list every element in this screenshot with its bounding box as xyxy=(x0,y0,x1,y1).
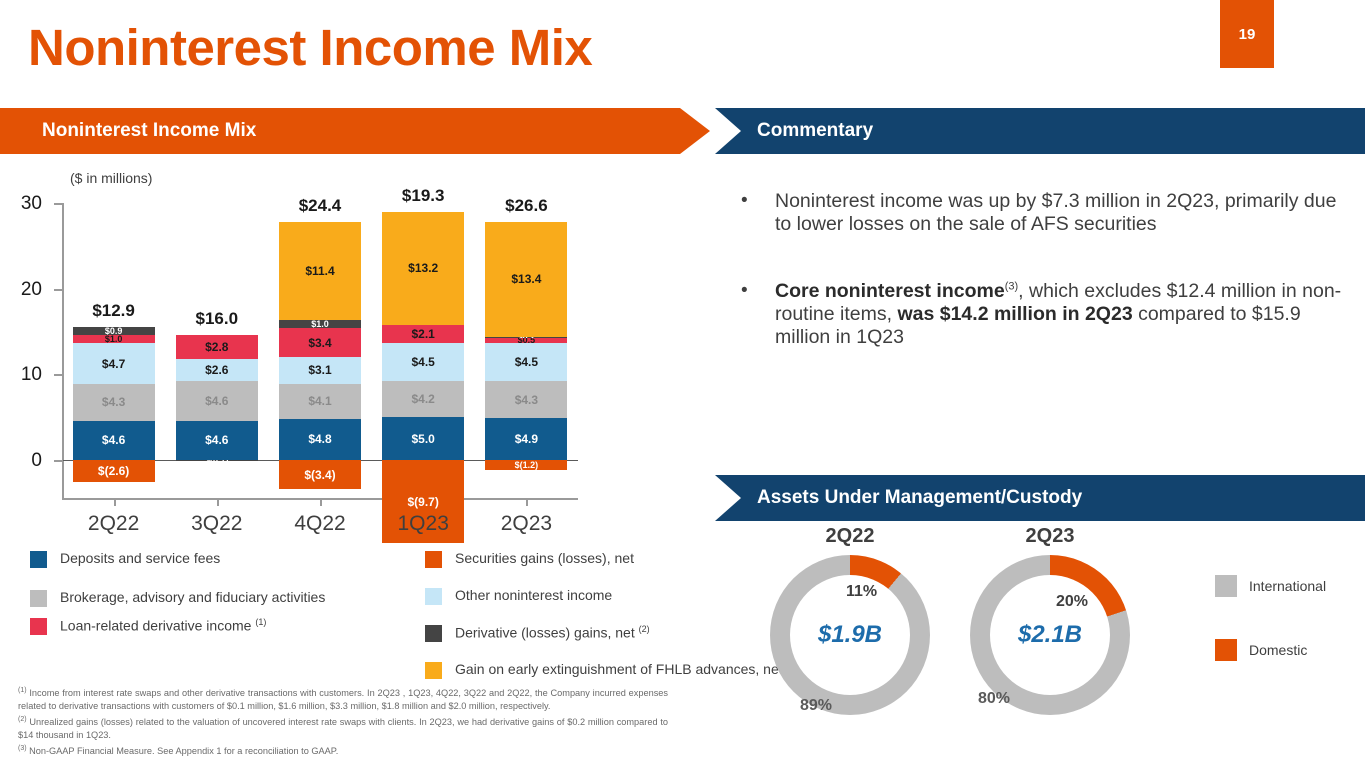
legend-item-label: Securities gains (losses), net xyxy=(455,550,634,566)
bar-segment: $4.3 xyxy=(73,384,155,421)
legend-item: Derivative (losses) gains, net (2) xyxy=(425,624,690,642)
section-header-aum-custody: Assets Under Management/Custody xyxy=(715,475,1365,521)
bar-total-label: $12.9 xyxy=(59,301,169,321)
banner-notch-icon xyxy=(715,108,741,154)
bar-segment: $0.5 xyxy=(485,338,567,342)
aum-legend: InternationalDomestic xyxy=(1215,575,1326,703)
bar-segment: $0.2 xyxy=(485,337,567,339)
bar-total-label: $16.0 xyxy=(162,309,272,329)
x-tick-mark xyxy=(114,498,116,506)
bar-segment: $4.6 xyxy=(176,381,258,420)
commentary-bullet: •Noninterest income was up by $7.3 milli… xyxy=(735,190,1355,236)
y-tick-label: 30 xyxy=(8,193,42,215)
legend-footnote-ref: (2) xyxy=(639,624,650,634)
section-header-label: Noninterest Income Mix xyxy=(0,120,256,142)
aum-legend-swatch xyxy=(1215,575,1237,597)
bar-segment: $0.9 xyxy=(73,327,155,335)
aum-legend-swatch xyxy=(1215,639,1237,661)
y-axis-line xyxy=(62,203,64,498)
banner-arrow-icon xyxy=(680,108,710,154)
footnotes: (1) Income from interest rate swaps and … xyxy=(18,686,668,759)
aum-legend-label: International xyxy=(1249,578,1326,594)
aum-custody-section: InternationalDomestic 2Q22$1.9B11%89%2Q2… xyxy=(715,525,1365,755)
section-header-noninterest-income-mix: Noninterest Income Mix xyxy=(0,108,680,154)
legend-color-swatch xyxy=(30,618,47,635)
bar-segment: $13.2 xyxy=(382,212,464,325)
page-title: Noninterest Income Mix xyxy=(28,22,592,73)
legend-item-label: Brokerage, advisory and fiduciary activi… xyxy=(60,589,325,605)
bullet-dot-icon: • xyxy=(735,280,775,349)
chart-units-note: ($ in millions) xyxy=(70,170,152,186)
donut-international-percent: 89% xyxy=(800,697,832,715)
bar-segment-negative: $(2.6) xyxy=(73,460,155,482)
bar-total-label: $19.3 xyxy=(368,186,478,206)
legend-item: Brokerage, advisory and fiduciary activi… xyxy=(30,589,410,607)
y-tick-mark xyxy=(54,203,63,205)
footnote-ref: (1) xyxy=(18,687,27,694)
legend-color-swatch xyxy=(30,551,47,568)
footnote-ref: (3) xyxy=(18,745,27,752)
page-number-text: 19 xyxy=(1239,26,1256,43)
bar-segment: $2.8 xyxy=(176,335,258,359)
bar-segment: $4.5 xyxy=(485,343,567,382)
aum-legend-item: International xyxy=(1215,575,1326,597)
bar-segment: $2.6 xyxy=(176,359,258,381)
aum-donut-chart: 2Q23$2.1B20%80% xyxy=(960,525,1140,685)
footnote: (2) Unrealized gains (losses) related to… xyxy=(18,715,668,743)
legend-item: Deposits and service fees xyxy=(30,550,410,568)
bar-segment: $1.0 xyxy=(73,335,155,344)
legend-color-swatch xyxy=(425,662,442,679)
x-axis-category-label: 1Q23 xyxy=(373,512,473,536)
y-tick-mark xyxy=(54,374,63,376)
bar-segment: $4.5 xyxy=(382,343,464,382)
bar-segment: $13.4 xyxy=(485,222,567,337)
bar-segment-negative: $(1.2) xyxy=(485,460,567,470)
aum-legend-label: Domestic xyxy=(1249,642,1307,658)
bar-segment: $2.1 xyxy=(382,325,464,343)
noninterest-income-bar-chart: 0102030 $4.6$4.3$4.7$1.0$0.9$(2.6)$12.9$… xyxy=(0,195,600,510)
x-axis-category-label: 2Q22 xyxy=(64,512,164,536)
x-axis-category-label: 4Q22 xyxy=(270,512,370,536)
footnote-ref: (2) xyxy=(18,716,27,723)
bar-segment-negative: $(3.4) xyxy=(279,460,361,489)
commentary-bullet-text: Core noninterest income(3), which exclud… xyxy=(775,280,1355,349)
legend-item: Loan-related derivative income (1) xyxy=(30,617,410,635)
y-tick-label: 0 xyxy=(8,450,42,472)
x-tick-mark xyxy=(217,498,219,506)
x-tick-mark xyxy=(526,498,528,506)
legend-item-label: Other noninterest income xyxy=(455,587,612,603)
aum-donut-chart: 2Q22$1.9B11%89% xyxy=(760,525,940,685)
y-tick-label: 10 xyxy=(8,364,42,386)
aum-legend-item: Domestic xyxy=(1215,639,1326,661)
bar-segment: $4.1 xyxy=(279,384,361,419)
legend-item: Securities gains (losses), net xyxy=(425,550,690,568)
bar-segment-negative: $(0.1) xyxy=(176,460,258,461)
bar-segment: $4.8 xyxy=(279,419,361,460)
section-header-label: Assets Under Management/Custody xyxy=(715,487,1082,509)
bar-segment: $4.2 xyxy=(382,381,464,417)
x-axis-category-label: 3Q22 xyxy=(167,512,267,536)
legend-color-swatch xyxy=(30,590,47,607)
y-tick-mark xyxy=(54,460,63,462)
x-tick-mark xyxy=(320,498,322,506)
bar-segment: $1.0 xyxy=(279,320,361,329)
bar-segment: $4.7 xyxy=(73,343,155,383)
bar-segment: $3.1 xyxy=(279,357,361,384)
donut-center-value: $2.1B xyxy=(990,575,1110,695)
legend-color-swatch xyxy=(425,625,442,642)
commentary-list: •Noninterest income was up by $7.3 milli… xyxy=(735,190,1355,393)
banner-notch-icon xyxy=(715,475,741,521)
section-header-commentary: Commentary xyxy=(715,108,1365,154)
donut-domestic-percent: 20% xyxy=(1056,593,1088,611)
donut-title: 2Q22 xyxy=(760,525,940,548)
bar-segment: $4.3 xyxy=(485,381,567,418)
legend-item-label: Derivative (losses) gains, net (2) xyxy=(455,624,650,641)
bar-segment: $4.6 xyxy=(73,421,155,460)
legend-color-swatch xyxy=(425,551,442,568)
donut-domestic-percent: 11% xyxy=(846,583,877,601)
bar-segment: $3.4 xyxy=(279,328,361,357)
y-tick-label: 20 xyxy=(8,279,42,301)
legend-footnote-ref: (1) xyxy=(255,617,266,627)
page-number-badge: 19 xyxy=(1220,0,1274,68)
footnote: (3) Non-GAAP Financial Measure. See Appe… xyxy=(18,744,668,758)
commentary-bullet: •Core noninterest income(3), which exclu… xyxy=(735,280,1355,349)
bar-segment: $4.9 xyxy=(485,418,567,460)
bar-segment: $4.6 xyxy=(176,421,258,460)
bar-total-label: $26.6 xyxy=(471,196,581,216)
bullet-dot-icon: • xyxy=(735,190,775,236)
y-tick-mark xyxy=(54,289,63,291)
donut-international-percent: 80% xyxy=(978,690,1010,708)
bar-total-label: $24.4 xyxy=(265,196,375,216)
x-axis-category-label: 2Q23 xyxy=(476,512,576,536)
footnote: (1) Income from interest rate swaps and … xyxy=(18,686,668,714)
legend-item: Other noninterest income xyxy=(425,587,690,605)
donut-title: 2Q23 xyxy=(960,525,1140,548)
bar-segment: $11.4 xyxy=(279,222,361,320)
legend-color-swatch xyxy=(425,588,442,605)
legend-item-label: Loan-related derivative income (1) xyxy=(60,617,266,634)
legend-item-label: Deposits and service fees xyxy=(60,550,220,566)
bar-segment: $5.0 xyxy=(382,417,464,460)
commentary-bullet-text: Noninterest income was up by $7.3 millio… xyxy=(775,190,1355,236)
